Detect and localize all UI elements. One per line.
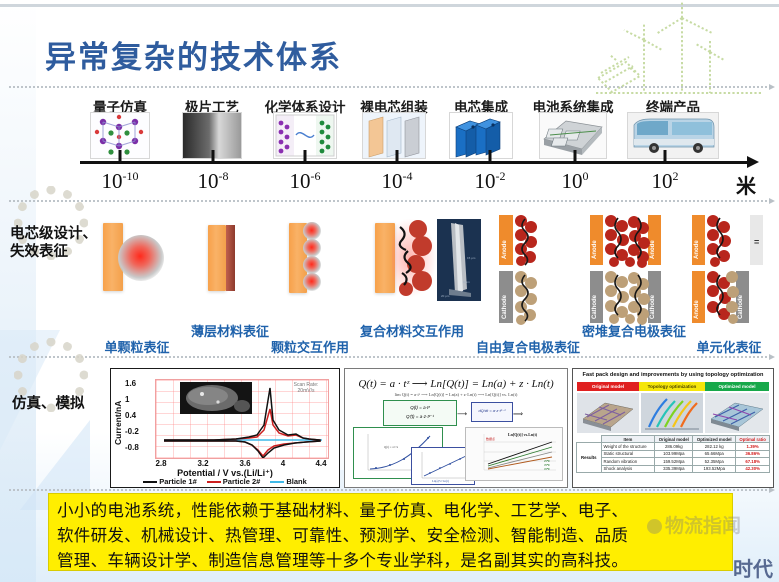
timeline-thumb-electric-bus <box>627 112 719 159</box>
scale-exponent: 2 <box>673 169 679 183</box>
legend-item-particle1: Particle 1# <box>143 477 197 486</box>
table-row-header: Results <box>577 443 602 473</box>
svg-text:Cathode: Cathode <box>502 294 508 319</box>
svg-text:Anode: Anode <box>694 300 700 319</box>
chart-y-tick-1: 1 <box>125 395 129 404</box>
legend-label: Blank <box>286 477 306 486</box>
scale-base: 10 <box>382 169 403 193</box>
table-cell-item: Static structural <box>601 450 655 457</box>
wind-turbine-icon <box>596 0 761 96</box>
table-row: Results Weight of the structure 286.09kg… <box>577 443 770 450</box>
caption-dense-composite-electrode: 密堆复合电极表征 <box>582 321 686 340</box>
timeline-tick-4 <box>396 150 399 162</box>
svg-text:=: = <box>754 237 759 247</box>
timeline-tick-2 <box>212 150 215 162</box>
table-row: Random vibration 159.52Mpa 52.35Mpa 67.1… <box>577 458 770 465</box>
caption-free-composite-electrode: 自由复合电极表征 <box>476 337 580 356</box>
page-title: 异常复杂的技术体系 <box>45 32 342 77</box>
table-cell-optimized: 193.52Mpa <box>693 465 736 472</box>
mini-chart-title: Ln[Q(t)] vs.Ln(t) <box>508 432 538 437</box>
equation-box-green: Q(t) = a·tᶻ Q'(t) = a·z·tᶻ⁻¹ <box>383 400 457 426</box>
table-cell-item: Random vibration <box>601 458 655 465</box>
panel3-band-topology: Topology optimization <box>639 382 705 391</box>
svg-text:Q(t) = a·t^z: Q(t) = a·t^z <box>384 445 399 449</box>
illus-composite-photo: 15 μm20 μm3 μm <box>437 219 481 301</box>
table-cell-ratio: 67.18% <box>736 458 770 465</box>
illus-single-particle-ball <box>118 235 164 281</box>
chart-series-particle2 <box>164 409 320 456</box>
scale-exponent: -4 <box>403 169 413 183</box>
table-cell-original: 103.99Mpa <box>655 450 693 457</box>
table-header-ratio: Optimal ratio <box>736 436 770 443</box>
panel3-band-original: Original model <box>577 382 639 391</box>
scale-base: 10 <box>290 169 311 193</box>
corner-brand-text: 时代 <box>733 553 773 582</box>
timeline-thumb-prismatic-cells <box>449 112 513 159</box>
timeline-tick-6 <box>574 150 577 162</box>
table-header-item: Item <box>601 436 655 443</box>
chart-y-tick-0: 1.6 <box>125 379 136 388</box>
legend-item-particle2: Particle 2# <box>207 477 261 486</box>
legend-label: Particle 2# <box>223 477 261 486</box>
conclusion-line-1: 小小的电池系统，性能依赖于基础材料、量子仿真、电化学、工艺学、电子、 <box>57 498 724 523</box>
timeline-scale-6: 100 <box>562 169 589 194</box>
illus-particle-1 <box>303 222 321 240</box>
svg-text:Cathode: Cathode <box>738 294 744 319</box>
table-header-ratio-label: Optimal ratio <box>739 437 766 442</box>
timeline-scale-7: 102 <box>652 169 679 194</box>
svg-text:Cathode: Cathode <box>650 294 656 319</box>
timeline-tick-7 <box>664 150 667 162</box>
watermark-logo-icon <box>647 519 662 534</box>
caption-unit-cell: 单元化表征 <box>696 337 761 356</box>
svg-text:Anode: Anode <box>694 240 700 259</box>
equation-box-line3: dQ/dt = a·z·tᶻ⁻¹ <box>472 408 512 413</box>
divider-under-sim-row <box>8 489 770 491</box>
timeline-scale-2: 10-8 <box>198 169 229 194</box>
table-cell-original: 286.09kg <box>655 443 693 450</box>
scale-base: 10 <box>475 169 496 193</box>
table-row: Shock analysis 335.39Mpa 193.52Mpa 42.30… <box>577 465 770 472</box>
table-cell-optimized: 52.35Mpa <box>693 458 736 465</box>
table-row: Static structural 103.99Mpa 65.66Mpa 36.… <box>577 450 770 457</box>
illus-particle-3 <box>303 256 321 274</box>
table-cell-optimized: 282.12 kg <box>693 443 736 450</box>
timeline-tick-3 <box>304 150 307 162</box>
divider-under-timeline <box>8 200 770 202</box>
caption-single-particle: 单颗粒表征 <box>104 337 169 356</box>
panel3-image-topology <box>641 393 703 433</box>
plot-box-right: Ln[Q(t)] vs.Ln(t) 数据点 25℃35℃45℃ <box>465 427 563 481</box>
scale-exponent: 0 <box>583 169 589 183</box>
equation-box-line2: Q'(t) = a·z·tᶻ⁻¹ <box>384 414 456 420</box>
chart-x-tick-1: 3.2 <box>197 459 208 468</box>
illus-thinfilm-layer <box>226 225 235 291</box>
table-cell-ratio: 1.39% <box>736 443 770 450</box>
panel-equation-derivation: Q(t) = a · tᶻ ⟶ Ln[Q(t)] = Ln(a) + z · L… <box>344 368 568 488</box>
chart-x-tick-3: 4 <box>281 459 285 468</box>
illus-composite-clumps <box>392 219 436 297</box>
equation-main: Q(t) = a · tᶻ ⟶ Ln[Q(t)] = Ln(a) + z · L… <box>345 377 567 390</box>
equation-box-blue: dQ/dt = a·z·tᶻ⁻¹ <box>471 402 513 422</box>
table-header-optimized: Optimized model <box>693 436 736 443</box>
scale-exponent: -6 <box>311 169 321 183</box>
panel3-image-optimized <box>705 393 769 433</box>
table-cell-ratio: 42.30% <box>736 465 770 472</box>
chart-plot-area: Scan Rate: 20mV/s <box>155 379 329 459</box>
chart-series-particle1 <box>164 388 320 458</box>
svg-text:3 μm: 3 μm <box>463 280 470 284</box>
table-cell-item: Shock analysis <box>601 465 655 472</box>
table-header-row: Item Original model Optimized model Opti… <box>577 436 770 443</box>
svg-text:Anode: Anode <box>502 240 508 259</box>
chart-y-tick-4: -0.8 <box>125 443 139 452</box>
equation-sub: lim Q(t) = a·tᶻ ⟶ Ln[Q(t)] = Ln(a) + z·L… <box>345 392 567 398</box>
timeline-scale-1: 10-10 <box>102 169 139 194</box>
illus-unit-cell: Anode Anode Cathode = <box>690 215 774 327</box>
panel-cv-chart: Current/nA Scan Rate: 20mV/s 1.6 1 0.4 -… <box>110 368 340 488</box>
timeline-scale-5: 10-2 <box>475 169 506 194</box>
conclusion-line-2: 软件研发、机械设计、热管理、可靠性、预测学、安全检测、智能制造、品质 <box>57 523 724 548</box>
table-cell-item: Weight of the structure <box>601 443 655 450</box>
caption-thin-film: 薄层材料表征 <box>191 321 269 340</box>
equation-arrow-1: ⟶ <box>457 410 467 418</box>
equation-box-line1: Q(t) = a·tᶻ <box>384 405 456 410</box>
scale-base: 10 <box>102 169 123 193</box>
chart-legend: Particle 1# Particle 2# Blank <box>111 477 339 486</box>
table-cell-original: 335.39Mpa <box>655 465 693 472</box>
svg-text:Anode: Anode <box>592 240 598 259</box>
caption-particle-interaction: 颗粒交互作用 <box>271 337 349 356</box>
chart-x-tick-2: 3.6 <box>239 459 250 468</box>
illus-particle-4 <box>303 273 321 291</box>
divider-under-cell-row <box>8 356 770 358</box>
svg-text:Anode: Anode <box>650 240 656 259</box>
illus-thinfilm-electrode <box>208 225 226 291</box>
timeline-tick-1 <box>119 150 122 162</box>
timeline-scale-4: 10-4 <box>382 169 413 194</box>
chart-series-svg <box>156 380 328 458</box>
watermark-text: 物流指闻 <box>665 516 741 537</box>
chart-y-tick-3: -0.2 <box>125 427 139 436</box>
chart-y-tick-2: 0.4 <box>125 411 136 420</box>
timeline-axis <box>80 161 748 164</box>
chart-y-axis-label: Current/nA <box>113 401 123 445</box>
table-cell-optimized: 65.66Mpa <box>693 450 736 457</box>
table-corner-cell <box>577 436 602 443</box>
chart-x-tick-0: 2.8 <box>155 459 166 468</box>
caption-composite-interaction: 复合材料交互作用 <box>360 321 464 340</box>
panel3-image-original <box>577 393 639 433</box>
panel3-band-optimized: Optimized model <box>705 382 769 391</box>
slide: 异常复杂的技术体系 量子仿真 极片工艺 <box>0 0 779 582</box>
chart-x-tick-4: 4.4 <box>315 459 326 468</box>
timeline-tick-5 <box>489 150 492 162</box>
legend-item-blank: Blank <box>270 477 306 486</box>
scale-exponent: -10 <box>123 169 139 183</box>
svg-text:Cathode: Cathode <box>592 294 598 319</box>
equation-arrow-2: ⟹ <box>513 410 523 418</box>
table-cell-ratio: 36.86% <box>736 450 770 457</box>
panel3-results-table: Item Original model Optimized model Opti… <box>576 435 770 473</box>
scale-base: 10 <box>562 169 583 193</box>
timeline-scale-3: 10-6 <box>290 169 321 194</box>
svg-text:20 μm: 20 μm <box>441 294 450 298</box>
scale-exponent: -2 <box>496 169 506 183</box>
scale-base: 10 <box>652 169 673 193</box>
table-cell-original: 159.52Mpa <box>655 458 693 465</box>
scale-base: 10 <box>198 169 219 193</box>
svg-text:15 μm: 15 μm <box>467 256 476 260</box>
scale-exponent: -8 <box>219 169 229 183</box>
svg-text:数据点: 数据点 <box>486 436 495 441</box>
illus-dense-composite-electrode: Anode Anode Cathode Cathode <box>588 215 680 327</box>
timeline-unit: 米 <box>736 170 756 199</box>
illus-free-composite-electrode: Anode Cathode <box>497 215 553 327</box>
panel3-title: Fast pack design and improvements by usi… <box>573 372 773 378</box>
table-header-original: Original model <box>655 436 693 443</box>
row-label-simulation: 仿真、模拟 <box>12 395 85 413</box>
illus-particle-2 <box>303 239 321 257</box>
watermark: 物流指闻 <box>647 511 741 538</box>
mini-chart-lnq-vs-lnt: Ln[Q(t)] vs.Ln(t) 数据点 25℃35℃45℃ <box>466 428 562 480</box>
conclusion-line-3: 管理、车辆设计学、制造信息管理等十多个专业学科，是名副其实的高科技。 <box>57 548 724 573</box>
legend-label: Particle 1# <box>159 477 197 486</box>
conclusion-box: 小小的电池系统，性能依赖于基础材料、量子仿真、电化学、工艺学、电子、 软件研发、… <box>48 493 733 571</box>
mini-chart-label: Ln(a)+z·Ln(t) <box>432 479 449 483</box>
timeline-thumb-cell-layers <box>362 112 426 159</box>
panel-topology-optimization: Fast pack design and improvements by usi… <box>572 368 774 488</box>
